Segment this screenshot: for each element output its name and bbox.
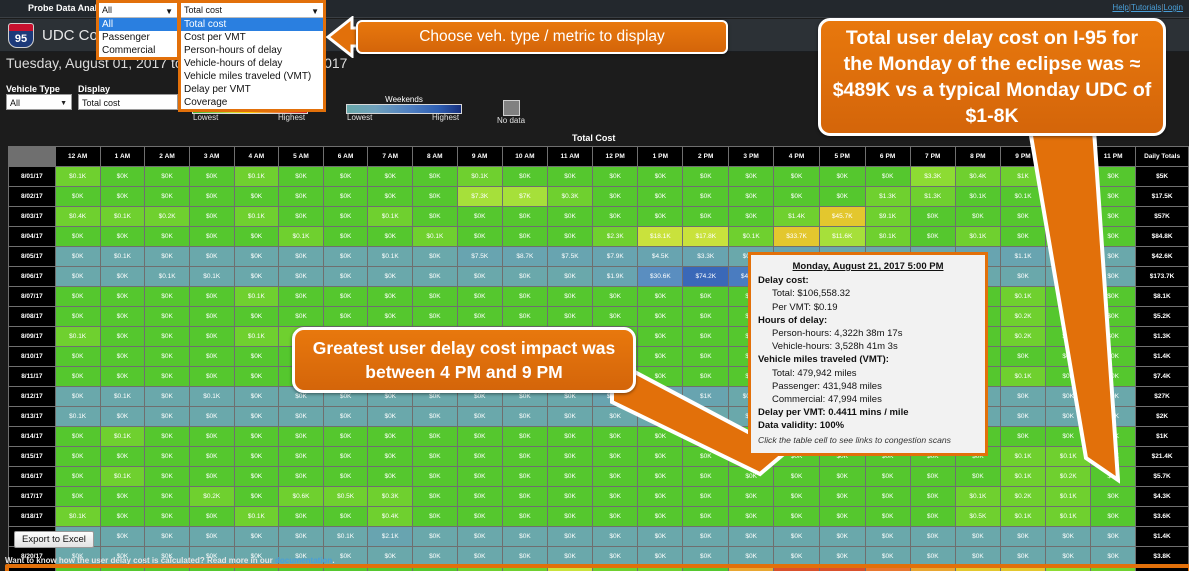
matrix-cell[interactable]: $0K xyxy=(235,247,279,266)
matrix-cell[interactable]: $0K xyxy=(1091,387,1135,406)
matrix-cell[interactable]: $0.8K xyxy=(638,567,682,571)
matrix-cell[interactable]: $0K xyxy=(548,427,592,446)
matrix-cell[interactable]: $0K xyxy=(235,187,279,206)
matrix-cell[interactable]: $0K xyxy=(911,207,955,226)
matrix-cell[interactable]: $0K xyxy=(683,347,728,366)
matrix-cell[interactable]: $0K xyxy=(279,267,323,286)
matrix-cell[interactable]: $0.1K xyxy=(101,247,145,266)
matrix-cell[interactable]: $0K xyxy=(235,427,279,446)
matrix-cell[interactable]: $0.2K xyxy=(1001,487,1045,506)
matrix-cell[interactable]: $0K xyxy=(458,547,502,566)
matrix-cell[interactable]: $0K xyxy=(145,467,189,486)
matrix-cell[interactable]: $0K xyxy=(593,507,637,526)
matrix-cell[interactable]: $0K xyxy=(820,487,865,506)
matrix-cell[interactable]: $0K xyxy=(1046,227,1090,246)
matrix-cell[interactable]: $0K xyxy=(1046,267,1090,286)
matrix-cell[interactable]: $0K xyxy=(324,187,368,206)
matrix-cell[interactable]: $0K xyxy=(866,547,910,566)
matrix-cell[interactable]: $0K xyxy=(956,527,1000,546)
matrix-cell[interactable]: $0K xyxy=(503,407,547,426)
matrix-cell[interactable]: $0K xyxy=(1091,167,1135,186)
matrix-cell[interactable]: $0.1K xyxy=(956,187,1000,206)
matrix-cell[interactable]: $0K xyxy=(279,167,323,186)
matrix-cell[interactable]: $0K xyxy=(911,547,955,566)
matrix-cell[interactable]: $0K xyxy=(235,307,279,326)
matrix-cell[interactable]: $0K xyxy=(413,427,457,446)
matrix-cell[interactable]: $85.7K xyxy=(774,567,819,571)
dropdown-option[interactable]: Coverage xyxy=(181,96,323,109)
matrix-cell[interactable]: $0.1K xyxy=(279,227,323,246)
matrix-cell[interactable]: $31.6K xyxy=(548,567,592,571)
table-row[interactable]: 8/18/17$0.1K$0K$0K$0K$0.1K$0K$0K$0.4K$0K… xyxy=(9,507,1188,526)
table-row[interactable]: 8/13/17$0.1K$0K$0K$0K$0K$0K$0K$0K$0K$0K$… xyxy=(9,407,1188,426)
matrix-cell[interactable]: $1.9K xyxy=(593,267,637,286)
matrix-cell[interactable]: $8.7K xyxy=(503,247,547,266)
matrix-cell[interactable]: $0K xyxy=(1046,367,1090,386)
matrix-cell[interactable]: $0K xyxy=(638,307,682,326)
matrix-cell[interactable]: $0K xyxy=(1001,207,1045,226)
matrix-cell[interactable]: $0K xyxy=(190,227,234,246)
matrix-cell[interactable]: $0K xyxy=(774,487,819,506)
matrix-cell[interactable]: $0.1K xyxy=(368,207,412,226)
matrix-cell[interactable]: $0K xyxy=(145,327,189,346)
matrix-cell[interactable]: $0K xyxy=(413,447,457,466)
matrix-cell[interactable]: $0K xyxy=(1001,227,1045,246)
matrix-cell[interactable]: $0K xyxy=(593,547,637,566)
matrix-cell[interactable]: $0K xyxy=(729,207,773,226)
display-option-list[interactable]: Total costCost per VMTPerson-hours of de… xyxy=(181,18,323,109)
matrix-cell[interactable]: $0K xyxy=(729,527,773,546)
matrix-cell[interactable]: $0K xyxy=(1091,267,1135,286)
matrix-cell[interactable]: $0K xyxy=(1001,407,1045,426)
matrix-cell[interactable]: $0K xyxy=(683,507,728,526)
matrix-cell[interactable]: $0K xyxy=(638,287,682,306)
matrix-cell[interactable]: $0K xyxy=(638,407,682,426)
matrix-cell[interactable]: $0K xyxy=(729,547,773,566)
matrix-cell[interactable]: $0K xyxy=(413,527,457,546)
matrix-cell[interactable]: $0K xyxy=(145,247,189,266)
matrix-cell[interactable]: $0K xyxy=(820,167,865,186)
matrix-cell[interactable]: $0K xyxy=(548,287,592,306)
matrix-cell[interactable]: $0K xyxy=(1001,387,1045,406)
matrix-cell[interactable]: $0K xyxy=(1046,327,1090,346)
dropdown-option[interactable]: Vehicle miles traveled (VMT) xyxy=(181,70,323,83)
matrix-cell[interactable]: $0K xyxy=(956,207,1000,226)
matrix-cell[interactable]: $0K xyxy=(683,287,728,306)
matrix-cell[interactable]: $0K xyxy=(593,467,637,486)
matrix-cell[interactable]: $0K xyxy=(413,507,457,526)
matrix-cell[interactable]: $0K xyxy=(458,447,502,466)
matrix-cell[interactable]: $0K xyxy=(911,487,955,506)
matrix-cell[interactable]: $0K xyxy=(279,247,323,266)
matrix-cell[interactable]: $0K xyxy=(279,407,323,426)
matrix-cell[interactable]: $74.2K xyxy=(683,267,728,286)
tutorials-link[interactable]: Tutorials xyxy=(1131,3,1161,12)
matrix-cell[interactable]: $9.1K xyxy=(866,207,910,226)
matrix-cell[interactable]: $0K xyxy=(101,567,145,571)
matrix-cell[interactable]: $1K xyxy=(683,387,728,406)
matrix-cell[interactable]: $0K xyxy=(279,467,323,486)
matrix-cell[interactable]: $0K xyxy=(866,487,910,506)
matrix-cell[interactable]: $3.3K xyxy=(911,167,955,186)
matrix-cell[interactable]: $0K xyxy=(1046,307,1090,326)
matrix-cell[interactable]: $0.1K xyxy=(1001,507,1045,526)
matrix-cell[interactable]: $1.3K xyxy=(911,187,955,206)
matrix-cell[interactable]: $0K xyxy=(683,487,728,506)
matrix-cell[interactable]: $0K xyxy=(1046,347,1090,366)
matrix-cell[interactable]: $0K xyxy=(368,427,412,446)
matrix-cell[interactable]: $0K xyxy=(145,427,189,446)
matrix-cell[interactable]: $0K xyxy=(1091,527,1135,546)
matrix-cell[interactable]: $0K xyxy=(324,167,368,186)
matrix-cell[interactable]: $0K xyxy=(1091,207,1135,226)
matrix-cell[interactable]: $0.1K xyxy=(101,207,145,226)
matrix-cell[interactable]: $0K xyxy=(190,307,234,326)
matrix-cell[interactable]: $0K xyxy=(548,307,592,326)
matrix-cell[interactable]: $0K xyxy=(279,187,323,206)
matrix-cell[interactable]: $0K xyxy=(413,547,457,566)
matrix-cell[interactable]: $0K xyxy=(774,507,819,526)
matrix-cell[interactable]: $0K xyxy=(101,307,145,326)
matrix-cell[interactable]: $0K xyxy=(101,347,145,366)
matrix-cell[interactable]: $0K xyxy=(1091,507,1135,526)
matrix-cell[interactable]: $0.1K xyxy=(866,227,910,246)
matrix-cell[interactable]: $0K xyxy=(235,527,279,546)
matrix-cell[interactable]: $0K xyxy=(1091,287,1135,306)
matrix-cell[interactable]: $51.7K xyxy=(956,567,1000,571)
matrix-cell[interactable]: $0K xyxy=(638,167,682,186)
matrix-cell[interactable]: $0K xyxy=(1046,167,1090,186)
matrix-cell[interactable]: $1.3K xyxy=(866,187,910,206)
matrix-cell[interactable]: $0K xyxy=(593,207,637,226)
matrix-cell[interactable]: $0.2K xyxy=(1001,307,1045,326)
matrix-cell[interactable]: $0K xyxy=(683,207,728,226)
display-dropdown-current[interactable]: Total cost ▼ xyxy=(181,3,323,18)
matrix-cell[interactable]: $0K xyxy=(503,507,547,526)
matrix-cell[interactable]: $0K xyxy=(413,567,457,571)
matrix-cell[interactable]: $0K xyxy=(190,187,234,206)
matrix-cell[interactable]: $0K xyxy=(368,567,412,571)
matrix-cell[interactable]: $31.5K xyxy=(729,567,773,571)
matrix-cell[interactable]: $0K xyxy=(683,187,728,206)
matrix-cell[interactable]: $0.1K xyxy=(235,167,279,186)
matrix-cell[interactable]: $0K xyxy=(1001,347,1045,366)
matrix-cell[interactable]: $0K xyxy=(638,507,682,526)
matrix-cell[interactable]: $0K xyxy=(548,487,592,506)
matrix-cell[interactable]: $0K xyxy=(503,527,547,546)
matrix-cell[interactable]: $0K xyxy=(503,487,547,506)
table-row[interactable]: 8/14/17$0K$0.1K$0K$0K$0K$0K$0K$0K$0K$0K$… xyxy=(9,427,1188,446)
matrix-cell[interactable]: $0K xyxy=(458,527,502,546)
table-row[interactable]: 8/03/17$0.4K$0.1K$0.2K$0K$0.1K$0K$0K$0.1… xyxy=(9,207,1188,226)
matrix-cell[interactable]: $0K xyxy=(956,547,1000,566)
table-row[interactable]: 8/19/17$0.1K$0K$0K$0K$0K$0K$0.1K$2.1K$0K… xyxy=(9,527,1188,546)
matrix-cell[interactable]: $0K xyxy=(56,447,100,466)
matrix-cell[interactable]: $0.5K xyxy=(324,487,368,506)
matrix-cell[interactable]: $0K xyxy=(458,507,502,526)
matrix-cell[interactable]: $0K xyxy=(1091,407,1135,426)
matrix-cell[interactable]: $0K xyxy=(190,507,234,526)
matrix-cell[interactable]: $0K xyxy=(956,467,1000,486)
matrix-cell[interactable]: $0.2K xyxy=(190,487,234,506)
matrix-cell[interactable]: $0K xyxy=(593,167,637,186)
matrix-cell[interactable]: $0K xyxy=(324,267,368,286)
matrix-cell[interactable]: $0K xyxy=(593,287,637,306)
matrix-cell[interactable]: $0K xyxy=(503,267,547,286)
matrix-cell[interactable]: $0K xyxy=(368,167,412,186)
vehicle-type-select[interactable]: All ▼ xyxy=(6,94,72,110)
export-to-excel-button[interactable]: Export to Excel xyxy=(14,531,94,548)
documentation-link[interactable]: documentation xyxy=(275,556,332,565)
matrix-cell[interactable]: $0.3K xyxy=(368,487,412,506)
table-row[interactable]: 8/21/17$0K$0K$0K$0K$0K$0K$0K$0K$0K$0.2K$… xyxy=(9,567,1188,571)
matrix-cell[interactable]: $0K xyxy=(368,267,412,286)
matrix-cell[interactable]: $0K xyxy=(683,547,728,566)
dropdown-option[interactable]: Passenger xyxy=(99,31,177,44)
matrix-cell[interactable]: $2.1K xyxy=(368,527,412,546)
matrix-cell[interactable]: $0K xyxy=(145,507,189,526)
matrix-cell[interactable]: $0K xyxy=(1046,527,1090,546)
matrix-cell[interactable]: $0K xyxy=(638,327,682,346)
matrix-cell[interactable]: $0K xyxy=(190,287,234,306)
matrix-cell[interactable]: $0K xyxy=(368,307,412,326)
matrix-cell[interactable]: $0K xyxy=(1091,327,1135,346)
matrix-cell[interactable]: $0K xyxy=(190,327,234,346)
matrix-cell[interactable]: $0K xyxy=(101,447,145,466)
matrix-cell[interactable]: $0.1K xyxy=(101,427,145,446)
matrix-cell[interactable]: $0K xyxy=(1091,547,1135,566)
matrix-cell[interactable]: $0K xyxy=(368,287,412,306)
matrix-cell[interactable]: $0K xyxy=(820,527,865,546)
display-dropdown-popup[interactable]: Total cost ▼ Total costCost per VMTPerso… xyxy=(178,0,326,112)
matrix-cell[interactable]: $0K xyxy=(638,527,682,546)
matrix-cell[interactable]: $0K xyxy=(56,267,100,286)
matrix-cell[interactable]: $0K xyxy=(413,487,457,506)
matrix-cell[interactable]: $0K xyxy=(56,567,100,571)
matrix-cell[interactable]: $0K xyxy=(101,527,145,546)
matrix-cell[interactable]: $0K xyxy=(235,467,279,486)
table-row[interactable]: 8/02/17$0K$0K$0K$0K$0K$0K$0K$0K$0K$7.3K$… xyxy=(9,187,1188,206)
matrix-cell[interactable]: $0K xyxy=(324,247,368,266)
matrix-cell[interactable]: $0K xyxy=(593,527,637,546)
matrix-cell[interactable]: $0K xyxy=(683,407,728,426)
matrix-cell[interactable]: $4.7K xyxy=(503,567,547,571)
matrix-cell[interactable]: $5.2K xyxy=(1091,567,1135,571)
help-link[interactable]: Help xyxy=(1112,3,1128,12)
matrix-cell[interactable]: $0.1K xyxy=(729,227,773,246)
matrix-cell[interactable]: $0K xyxy=(683,567,728,571)
matrix-cell[interactable]: $0K xyxy=(683,307,728,326)
matrix-cell[interactable]: $0K xyxy=(1001,547,1045,566)
matrix-cell[interactable]: $17.2K xyxy=(1046,567,1090,571)
matrix-cell[interactable]: $0K xyxy=(145,567,189,571)
matrix-cell[interactable]: $0K xyxy=(548,467,592,486)
matrix-cell[interactable]: $0K xyxy=(101,367,145,386)
matrix-cell[interactable]: $0K xyxy=(683,327,728,346)
matrix-cell[interactable]: $0K xyxy=(101,187,145,206)
matrix-cell[interactable]: $0K xyxy=(324,307,368,326)
matrix-cell[interactable]: $0K xyxy=(413,287,457,306)
matrix-cell[interactable]: $0K xyxy=(145,227,189,246)
matrix-cell[interactable]: $0K xyxy=(56,387,100,406)
matrix-cell[interactable]: $0K xyxy=(548,167,592,186)
matrix-cell[interactable]: $0K xyxy=(729,187,773,206)
matrix-cell[interactable]: $0K xyxy=(548,447,592,466)
matrix-cell[interactable]: $0K xyxy=(458,227,502,246)
matrix-cell[interactable]: $0K xyxy=(279,427,323,446)
matrix-cell[interactable]: $7.5K xyxy=(458,247,502,266)
matrix-cell[interactable]: $0K xyxy=(503,547,547,566)
matrix-cell[interactable]: $0K xyxy=(368,227,412,246)
matrix-cell[interactable]: $0K xyxy=(820,507,865,526)
matrix-cell[interactable]: $0K xyxy=(548,507,592,526)
matrix-cell[interactable]: $0K xyxy=(638,447,682,466)
matrix-cell[interactable]: $2.3K xyxy=(593,227,637,246)
matrix-cell[interactable]: $0K xyxy=(503,307,547,326)
matrix-cell[interactable]: $0K xyxy=(1001,267,1045,286)
dropdown-option[interactable]: Total cost xyxy=(181,18,323,31)
matrix-cell[interactable]: $0K xyxy=(235,387,279,406)
matrix-cell[interactable]: $3.3K xyxy=(683,247,728,266)
matrix-cell[interactable]: $0K xyxy=(638,427,682,446)
matrix-cell[interactable]: $0.1K xyxy=(56,167,100,186)
matrix-cell[interactable]: $0.2K xyxy=(145,207,189,226)
matrix-cell[interactable]: $0K xyxy=(56,247,100,266)
matrix-cell[interactable]: $0K xyxy=(324,427,368,446)
table-row[interactable]: 8/07/17$0K$0K$0K$0K$0.1K$0K$0K$0K$0K$0K$… xyxy=(9,287,1188,306)
matrix-cell[interactable]: $0K xyxy=(1046,187,1090,206)
matrix-cell[interactable]: $54.6K xyxy=(911,567,955,571)
matrix-cell[interactable]: $0K xyxy=(593,487,637,506)
matrix-cell[interactable]: $0.2K xyxy=(458,567,502,571)
matrix-cell[interactable]: $0.1K xyxy=(1001,187,1045,206)
matrix-cell[interactable]: $0.1K xyxy=(235,507,279,526)
matrix-cell[interactable]: $0.1K xyxy=(101,387,145,406)
matrix-cell[interactable]: $7K xyxy=(503,187,547,206)
matrix-cell[interactable]: $0K xyxy=(324,407,368,426)
matrix-cell[interactable]: $0.1K xyxy=(1046,447,1090,466)
matrix-cell[interactable]: $0.1K xyxy=(190,267,234,286)
matrix-cell[interactable]: $0.5K xyxy=(956,507,1000,526)
matrix-cell[interactable]: $11.6K xyxy=(820,227,865,246)
matrix-cell[interactable]: $0.1K xyxy=(368,247,412,266)
matrix-cell[interactable]: $0.1K xyxy=(56,407,100,426)
matrix-cell[interactable]: $0K xyxy=(866,467,910,486)
matrix-cell[interactable]: $0K xyxy=(774,187,819,206)
matrix-cell[interactable]: $0K xyxy=(413,407,457,426)
vehicle-type-dropdown-popup[interactable]: All ▼ AllPassengerCommercial xyxy=(96,0,180,60)
vehicle-type-dropdown-current[interactable]: All ▼ xyxy=(99,3,177,18)
matrix-cell[interactable]: $0K xyxy=(911,227,955,246)
matrix-cell[interactable]: $0K xyxy=(1091,467,1135,486)
matrix-cell[interactable]: $1.4K xyxy=(774,207,819,226)
matrix-cell[interactable]: $0.1K xyxy=(145,267,189,286)
vehicle-type-option-list[interactable]: AllPassengerCommercial xyxy=(99,18,177,57)
matrix-cell[interactable]: $0K xyxy=(413,187,457,206)
matrix-cell[interactable]: $0K xyxy=(1046,207,1090,226)
matrix-cell[interactable]: $0K xyxy=(368,187,412,206)
matrix-cell[interactable]: $0K xyxy=(820,547,865,566)
matrix-cell[interactable]: $0K xyxy=(1091,367,1135,386)
matrix-cell[interactable]: $0K xyxy=(279,447,323,466)
matrix-cell[interactable]: $0K xyxy=(548,547,592,566)
matrix-cell[interactable]: $0K xyxy=(145,187,189,206)
matrix-cell[interactable]: $0K xyxy=(593,427,637,446)
matrix-cell[interactable]: $0K xyxy=(458,207,502,226)
matrix-cell[interactable]: $1K xyxy=(1001,167,1045,186)
matrix-cell[interactable]: $0K xyxy=(774,467,819,486)
matrix-cell[interactable]: $0K xyxy=(1091,307,1135,326)
matrix-cell[interactable]: $0K xyxy=(324,207,368,226)
matrix-cell[interactable]: $0K xyxy=(235,487,279,506)
matrix-cell[interactable]: $0K xyxy=(503,227,547,246)
matrix-cell[interactable]: $0K xyxy=(368,467,412,486)
table-row[interactable]: 8/05/17$0K$0.1K$0K$0K$0K$0K$0K$0.1K$0K$7… xyxy=(9,247,1188,266)
matrix-cell[interactable]: $0.1K xyxy=(235,327,279,346)
matrix-cell[interactable]: $0K xyxy=(56,367,100,386)
matrix-cell[interactable]: $0.1K xyxy=(101,467,145,486)
matrix-cell[interactable]: $0K xyxy=(413,307,457,326)
matrix-cell[interactable]: $0K xyxy=(593,307,637,326)
matrix-cell[interactable]: $0K xyxy=(324,567,368,571)
matrix-cell[interactable]: $0K xyxy=(235,267,279,286)
matrix-cell[interactable]: $0K xyxy=(1046,427,1090,446)
matrix-cell[interactable]: $0K xyxy=(503,167,547,186)
table-row[interactable]: 8/17/17$0K$0K$0K$0.2K$0K$0.6K$0.5K$0.3K$… xyxy=(9,487,1188,506)
matrix-cell[interactable]: $0K xyxy=(413,247,457,266)
matrix-cell[interactable]: $0K xyxy=(638,187,682,206)
matrix-cell[interactable]: $0K xyxy=(145,407,189,426)
matrix-cell[interactable]: $0K xyxy=(683,447,728,466)
matrix-cell[interactable]: $0.2K xyxy=(1001,327,1045,346)
matrix-cell[interactable]: $0K xyxy=(1091,347,1135,366)
matrix-cell[interactable]: $0K xyxy=(458,287,502,306)
matrix-cell[interactable]: $0K xyxy=(101,287,145,306)
matrix-cell[interactable]: $0K xyxy=(1091,447,1135,466)
matrix-cell[interactable]: $37.7K xyxy=(1001,567,1045,571)
matrix-cell[interactable]: $0K xyxy=(458,307,502,326)
matrix-cell[interactable]: $0K xyxy=(729,467,773,486)
matrix-cell[interactable]: $0K xyxy=(1046,387,1090,406)
table-row[interactable]: 8/16/17$0K$0.1K$0K$0K$0K$0K$0K$0K$0K$0K$… xyxy=(9,467,1188,486)
matrix-cell[interactable]: $0.1K xyxy=(956,487,1000,506)
matrix-cell[interactable]: $30.6K xyxy=(638,267,682,286)
matrix-cell[interactable]: $0K xyxy=(190,407,234,426)
dropdown-option[interactable]: Delay per VMT xyxy=(181,83,323,96)
matrix-cell[interactable]: $0.1K xyxy=(1046,487,1090,506)
matrix-cell[interactable]: $0K xyxy=(145,367,189,386)
matrix-cell[interactable]: $0.1K xyxy=(190,387,234,406)
matrix-cell[interactable]: $0K xyxy=(1091,487,1135,506)
matrix-cell[interactable]: $0K xyxy=(279,307,323,326)
matrix-cell[interactable]: $0K xyxy=(235,347,279,366)
dropdown-option[interactable]: Person-hours of delay xyxy=(181,44,323,57)
matrix-cell[interactable]: $0.3K xyxy=(548,187,592,206)
matrix-cell[interactable]: $0K xyxy=(774,527,819,546)
matrix-cell[interactable]: $7.5K xyxy=(548,247,592,266)
matrix-cell[interactable]: $0K xyxy=(145,387,189,406)
dropdown-option[interactable]: Cost per VMT xyxy=(181,31,323,44)
matrix-cell[interactable]: $0K xyxy=(729,167,773,186)
matrix-cell[interactable]: $0K xyxy=(1091,227,1135,246)
matrix-cell[interactable]: $1.1K xyxy=(1001,247,1045,266)
matrix-cell[interactable]: $0K xyxy=(638,487,682,506)
matrix-cell[interactable]: $2.7K xyxy=(638,387,682,406)
matrix-cell[interactable]: $0.4K xyxy=(56,207,100,226)
matrix-cell[interactable]: $0K xyxy=(503,427,547,446)
matrix-cell[interactable]: $0K xyxy=(683,167,728,186)
matrix-cell[interactable]: $0K xyxy=(548,527,592,546)
